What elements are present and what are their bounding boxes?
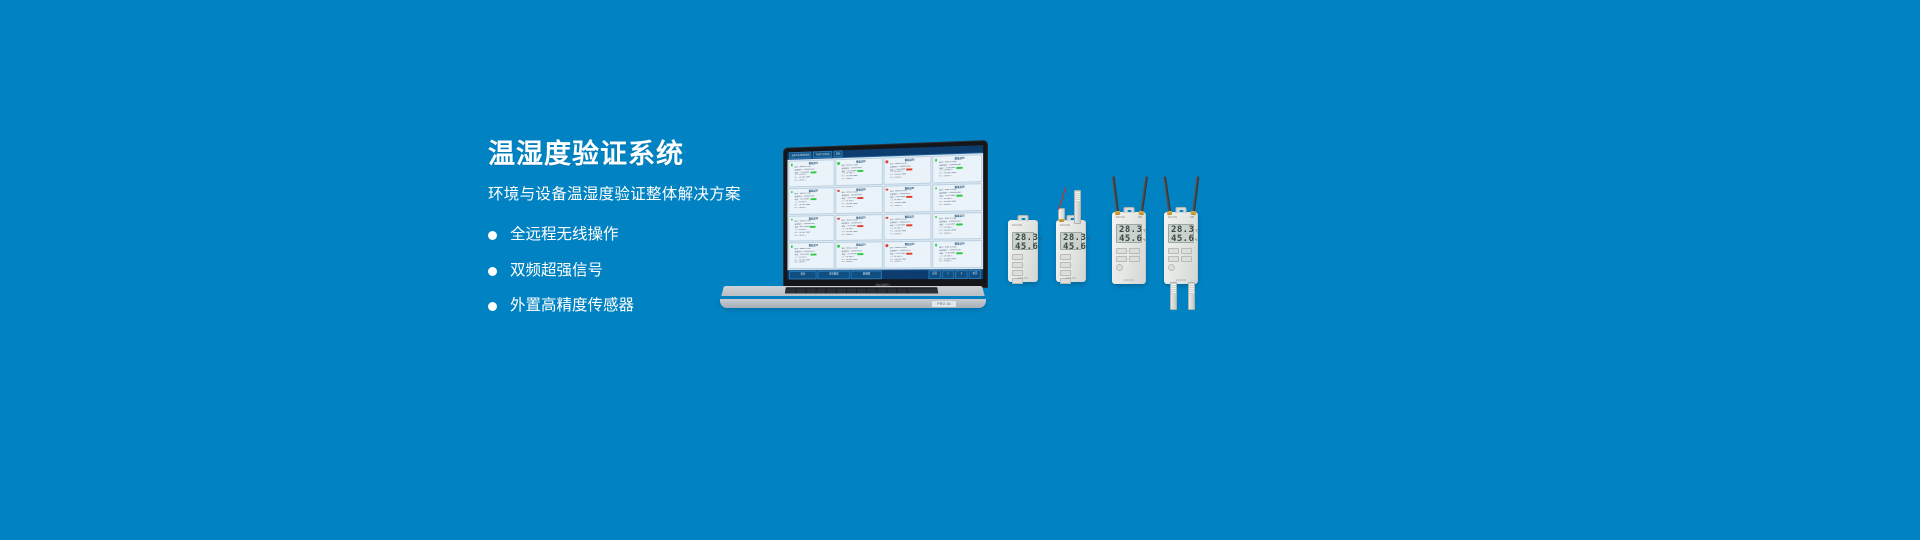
tab-help[interactable]: 帮助: [834, 150, 843, 157]
status-badge: [906, 252, 913, 254]
hanging-hook-icon: [1018, 215, 1029, 221]
connector-gold-contact-icon: [1059, 219, 1064, 222]
status-led-icon: [886, 216, 888, 218]
verification-point-card[interactable]: 验证点08编号:BS8-371345设备编号:1530051008温度:72.5…: [933, 183, 983, 212]
chart-button[interactable]: 曲线图: [851, 271, 882, 279]
status-led-icon: [886, 188, 888, 190]
card-row-key: H-2:: [841, 234, 845, 237]
lcd-display: 28.3 ℃ 45.6 %: [1060, 232, 1082, 250]
card-row-key: H-2:: [794, 180, 798, 183]
feature-label: 外置高精度传感器: [510, 297, 634, 316]
humidity-unit: %: [1143, 239, 1145, 242]
card-row: H-2:28.08℃: [939, 174, 980, 178]
status-badge: [857, 169, 863, 171]
antenna-right: [1192, 176, 1200, 212]
device-brand-label: EN/ON: [1168, 216, 1177, 219]
device-key[interactable]: [1168, 256, 1179, 262]
verification-point-card[interactable]: 验证点09编号:BS8-371345设备编号:1530051009温度:80.1…: [788, 215, 834, 242]
temperature-unit: ℃: [1195, 230, 1199, 233]
laptop-trackpad[interactable]: [840, 294, 881, 296]
keyboard-key[interactable]: [887, 292, 897, 293]
keyboard-key[interactable]: [826, 292, 836, 293]
card-row: H-2:28.08℃: [890, 233, 930, 236]
temperature-unit: ℃: [1087, 238, 1091, 241]
sensor-device-group: ENCON 28.3 ℃ 45.6 % ENCON: [1000, 178, 1220, 308]
card-row-value: 28.08℃: [846, 234, 853, 237]
keyboard-key[interactable]: [928, 292, 938, 293]
probe-connector: [1058, 208, 1065, 221]
status-badge: [810, 171, 816, 173]
device-right-label: HB: [1138, 216, 1142, 219]
bottom-probe-right: [1188, 282, 1195, 310]
status-led-icon: [791, 191, 793, 193]
antenna-base-icon: [1139, 211, 1145, 216]
status-led-icon: [791, 218, 793, 220]
humidity-unit: %: [1039, 247, 1041, 250]
pager-first[interactable]: 首页: [929, 270, 941, 278]
device-foot-label: ENCON: [1112, 279, 1146, 282]
card-row-value: 28.08℃: [894, 177, 901, 180]
status-led-icon: [886, 160, 888, 163]
probe-wire: [1058, 187, 1067, 210]
antenna-base-icon: [1167, 211, 1173, 216]
lcd-humidity-line: 45.6 %: [1063, 243, 1079, 252]
card-row-value: 28.08℃: [846, 261, 853, 264]
device-key[interactable]: [1181, 256, 1192, 262]
external-humidity-probe: [1074, 190, 1081, 224]
device-key[interactable]: [1060, 270, 1071, 276]
status-led-icon: [886, 244, 888, 246]
bullet-dot-icon: [488, 302, 497, 311]
status-led-icon: [837, 217, 839, 219]
device-key[interactable]: [1129, 256, 1140, 262]
device-key[interactable]: [1129, 248, 1140, 254]
status-badge: [956, 223, 963, 225]
card-row-key: H-2:: [939, 204, 943, 207]
card-row-key: H-2:: [794, 262, 798, 265]
card-row-value: 28.08℃: [799, 234, 806, 237]
card-row-value: 28.08℃: [944, 204, 952, 207]
hanging-hook-icon: [1176, 207, 1187, 213]
card-row: H-2:28.08℃: [794, 206, 832, 210]
device-brand-label: ENCON: [1012, 224, 1022, 227]
keyboard-key[interactable]: [806, 292, 816, 293]
wireless-logger-small[interactable]: ENCON 28.3 ℃ 45.6 % ENCON: [1008, 220, 1038, 282]
card-row-key: H-2:: [890, 205, 894, 208]
hanging-hook-icon: [1124, 207, 1135, 213]
pager-page-1[interactable]: 1: [942, 270, 954, 278]
humidity-value: 45.6: [1063, 243, 1086, 252]
device-keypad[interactable]: [1168, 248, 1194, 271]
verification-point-card[interactable]: 验证点10编号:BS8-371345设备编号:1530051010温度:75.9…: [835, 214, 882, 242]
card-row-value: 28.08℃: [894, 205, 901, 208]
humidity-value: 45.6: [1015, 243, 1038, 252]
verification-point-card[interactable]: 验证点02编号:BS8-371345设备编号:1530051002温度:75.2…: [835, 158, 882, 186]
laptop-device: 设备列表/数据/曲线 导出/打印/报表 帮助 验证点01编号:BS8-37134…: [718, 140, 988, 300]
antenna-right: [1140, 176, 1148, 212]
status-badge: [857, 253, 863, 255]
status-led-icon: [935, 187, 937, 190]
verification-point-card[interactable]: 验证点14编号:BS8-371345设备编号:1530051014温度:74.2…: [835, 242, 882, 269]
device-key[interactable]: [1168, 248, 1179, 254]
lcd-display: 28.3 ℃ 45.6 %: [1168, 224, 1194, 243]
device-key[interactable]: [1116, 256, 1127, 262]
antenna-base-icon: [1115, 211, 1121, 216]
tab-device-list[interactable]: 设备列表/数据/曲线: [789, 151, 811, 158]
verification-point-card[interactable]: 验证点06编号:BS8-371345设备编号:1530051006温度:74.8…: [835, 186, 882, 214]
dual-antenna-logger-left[interactable]: EN/ON HB 28.3 ℃ 45.6 % ENCON: [1112, 212, 1146, 284]
tab-export[interactable]: 导出/打印/报表: [813, 151, 831, 158]
status-badge: [906, 168, 913, 170]
card-row: H-2:28.08℃: [841, 177, 880, 181]
humidity-unit: %: [1087, 247, 1089, 250]
laptop-spec-sticker: PRO 16: [932, 301, 956, 307]
status-led-icon: [935, 244, 937, 246]
card-row: H-2:28.08℃: [841, 233, 880, 236]
antenna-left: [1163, 176, 1171, 212]
card-row-key: H-2:: [841, 178, 845, 181]
device-key[interactable]: [1116, 248, 1127, 254]
keyboard-key[interactable]: [796, 292, 806, 293]
probe-mesh-icon: [1189, 283, 1194, 294]
card-row-key: H-2:: [890, 177, 894, 180]
hook-hole-icon: [1179, 210, 1183, 212]
keyboard-key[interactable]: [786, 292, 796, 293]
status-badge: [956, 252, 963, 254]
verification-point-card[interactable]: 验证点03编号:BS8-371345设备编号:1530051003温度:79.1…: [883, 156, 931, 185]
card-row-key: H-2:: [939, 261, 943, 264]
device-brand-row: EN/ON HB: [1168, 216, 1194, 219]
device-right-label: HB: [1190, 216, 1194, 219]
device-power-button[interactable]: [1116, 264, 1123, 271]
card-row-value: 28.08℃: [944, 232, 952, 235]
card-row: H-2:28.08℃: [939, 203, 980, 207]
humidity-value: 45.6: [1119, 235, 1142, 244]
card-row-value: 28.08℃: [846, 206, 853, 209]
bullet-dot-icon: [488, 267, 497, 276]
device-brand-row: ENCON: [1060, 224, 1082, 227]
device-key[interactable]: [1012, 270, 1023, 276]
hook-hole-icon: [1127, 210, 1131, 212]
device-brand-label: EN/ON: [1116, 216, 1125, 219]
status-led-icon: [791, 164, 793, 166]
laptop-base: PRO 16: [718, 286, 988, 308]
verification-point-card[interactable]: 验证点15编号:BS8-371345设备编号:1530051015温度:79.5…: [883, 241, 931, 269]
device-brand-row: EN/ON HB: [1116, 216, 1142, 219]
status-led-icon: [935, 159, 937, 162]
temperature-unit: ℃: [1143, 230, 1147, 233]
card-row-key: H-2:: [939, 232, 943, 235]
product-banner: 温湿度验证系统 环境与设备温湿度验证整体解决方案 全远程无线操作 双频超强信号 …: [0, 0, 1920, 540]
card-row-key: H-2:: [890, 233, 894, 236]
card-row-key: H-2:: [939, 176, 943, 179]
device-brand-row: ENCON: [1012, 224, 1034, 227]
status-badge: [810, 226, 816, 228]
device-brand-label: ENCON: [1060, 224, 1070, 227]
device-key[interactable]: [1012, 254, 1023, 260]
lcd-display: 28.3 ℃ 45.6 %: [1012, 232, 1034, 250]
card-row: H-2:28.08℃: [939, 232, 980, 235]
device-power-button[interactable]: [1168, 264, 1175, 271]
verification-point-card[interactable]: 验证点05编号:BS8-371345设备编号:1530051005温度:76.1…: [788, 187, 834, 215]
antenna-left: [1112, 176, 1120, 212]
card-row-value: 28.08℃: [846, 178, 853, 181]
refresh-button[interactable]: 更新: [789, 271, 817, 279]
verification-point-card[interactable]: 验证点01编号:BS8-371345设备编号:1530051001温度:77.6…: [788, 159, 834, 187]
verification-point-grid: 验证点01编号:BS8-371345设备编号:1530051001温度:77.6…: [787, 153, 983, 270]
card-row-key: H-2:: [794, 207, 798, 210]
card-row: H-2:28.08℃: [841, 261, 880, 264]
laptop-deck: [721, 286, 985, 296]
device-key[interactable]: [1060, 254, 1071, 260]
verification-point-card[interactable]: 验证点07编号:BS8-371345设备编号:1530051007温度:78.0…: [883, 184, 931, 212]
card-row: H-2:28.08℃: [841, 205, 880, 209]
card-row-value: 28.08℃: [894, 233, 901, 236]
card-row: H-2:28.08℃: [794, 262, 832, 265]
laptop-screen: 设备列表/数据/曲线 导出/打印/报表 帮助 验证点01编号:BS8-37134…: [787, 145, 983, 279]
bottom-probe-left: [1170, 282, 1177, 310]
status-led-icon: [935, 215, 937, 218]
device-key[interactable]: [1181, 248, 1192, 254]
card-row: H-2:28.08℃: [890, 261, 930, 264]
card-row-value: 28.08℃: [944, 261, 952, 264]
verification-point-card[interactable]: 验证点16编号:BS8-371345设备编号:1530051016温度:72.9…: [933, 240, 983, 268]
card-row: H-2:28.08℃: [890, 204, 930, 208]
card-row-key: H-2:: [794, 234, 798, 237]
status-badge: [956, 166, 963, 168]
status-led-icon: [837, 190, 839, 192]
humidity-value: 45.6: [1171, 235, 1194, 244]
pager-page-2[interactable]: 2: [955, 270, 967, 278]
card-row: H-2:28.08℃: [939, 261, 980, 264]
probe-mesh-icon: [1171, 283, 1176, 294]
feature-label: 双频超强信号: [510, 262, 603, 281]
card-row: H-2:28.08℃: [794, 234, 832, 237]
card-row-value: 28.08℃: [944, 175, 952, 178]
hook-hole-icon: [1021, 218, 1025, 220]
card-row-key: H-2:: [841, 206, 845, 209]
device-foot-label: ENCON: [1056, 277, 1086, 280]
card-row-key: H-2:: [890, 261, 894, 264]
keyboard-key[interactable]: [898, 292, 908, 293]
humidity-unit: %: [1195, 239, 1197, 242]
temperature-unit: ℃: [1039, 238, 1043, 241]
lcd-humidity-line: 45.6 %: [1015, 243, 1031, 252]
card-row-value: 28.08℃: [799, 262, 806, 265]
wireless-logger-external-probe[interactable]: ENCON 28.3 ℃ 45.6 % ENCON: [1056, 220, 1086, 282]
card-row-value: 28.08℃: [799, 180, 806, 183]
lcd-display: 28.3 ℃ 45.6 %: [1116, 224, 1142, 243]
antenna-base-icon: [1191, 211, 1197, 216]
dual-antenna-logger-right[interactable]: EN/ON HB 28.3 ℃ 45.6 % ENCON: [1164, 212, 1198, 284]
device-key[interactable]: [1060, 262, 1071, 268]
status-badge: [857, 225, 863, 227]
feature-label: 全远程无线操作: [510, 226, 619, 245]
app-bottom-toolbar: 更新 历史数据 曲线图 首页 1 2 末页: [787, 269, 983, 279]
keyboard-key[interactable]: [816, 292, 826, 293]
device-foot-label: ENCON: [1008, 277, 1038, 280]
device-keypad[interactable]: [1116, 248, 1142, 271]
keyboard-key[interactable]: [918, 292, 928, 293]
verification-point-card[interactable]: 验证点11编号:BS8-371345设备编号:1530051011温度:73.0…: [883, 213, 931, 241]
bullet-dot-icon: [488, 231, 497, 240]
keyboard-key[interactable]: [908, 292, 918, 293]
card-row-value: 28.08℃: [799, 207, 806, 210]
history-data-button[interactable]: 历史数据: [818, 271, 851, 279]
status-badge: [810, 253, 816, 255]
card-row-value: 28.08℃: [894, 261, 901, 264]
status-led-icon: [837, 162, 839, 164]
pager-last[interactable]: 末页: [969, 270, 982, 279]
status-badge: [906, 224, 913, 226]
probe-mesh-icon: [1075, 191, 1080, 202]
verification-point-card[interactable]: 验证点12编号:BS8-371345设备编号:1530051012温度:77.4…: [933, 212, 983, 240]
verification-point-card[interactable]: 验证点04编号:BS8-371345设备编号:1530051004温度:73.4…: [933, 154, 983, 183]
card-row: H-2:28.08℃: [794, 179, 832, 183]
status-led-icon: [791, 245, 793, 247]
verification-point-card[interactable]: 验证点13编号:BS8-371345设备编号:1530051013温度:76.6…: [788, 242, 834, 269]
lcd-humidity-line: 45.6 %: [1171, 235, 1191, 244]
card-row: H-2:28.08℃: [890, 176, 930, 180]
laptop-lid: 设备列表/数据/曲线 导出/打印/报表 帮助 验证点01编号:BS8-37134…: [783, 140, 988, 288]
status-led-icon: [837, 245, 839, 247]
device-key[interactable]: [1012, 262, 1023, 268]
card-row-key: H-2:: [841, 261, 845, 264]
lcd-humidity-line: 45.6 %: [1119, 235, 1139, 244]
